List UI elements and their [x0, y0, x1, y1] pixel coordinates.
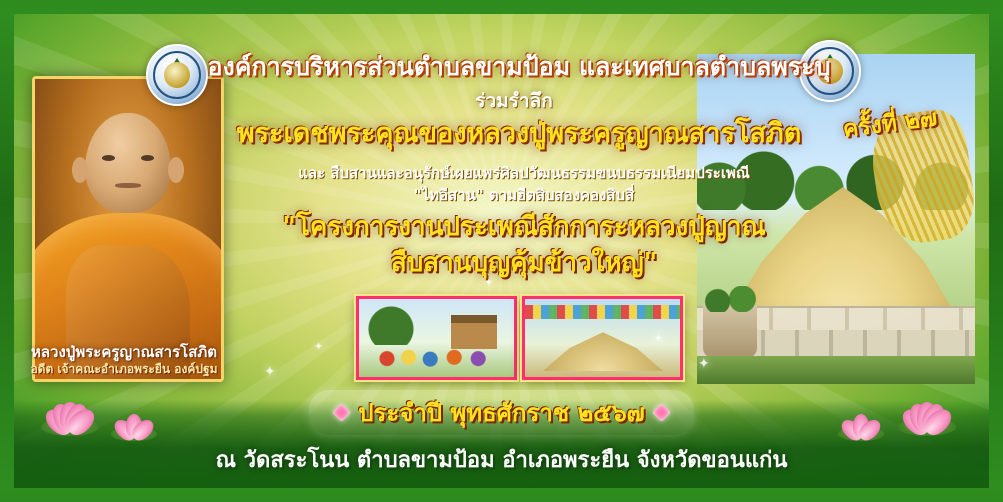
photo1-tree [365, 305, 417, 345]
venue-text: ณ วัดสระโนน ตำบลขามป้อม อำเภอพระยืน จังห… [14, 442, 989, 477]
lotus-flower-icon [108, 406, 159, 438]
monk-eye-left [102, 155, 115, 161]
subtext-culture-line2: "ไทอีสาน" ตามฮีตสิบสองคองสิบสี่ [254, 186, 794, 204]
year-pill: ประจำปี พุทธศักราช ๒๕๖๗ [309, 390, 693, 435]
banner-inner-area: หลวงปู่พระครูญาณสารโสภิต อดีต เจ้าคณะอำเ… [14, 14, 989, 488]
monk-head [85, 113, 171, 213]
monk-caption: หลวงปู่พระครูญาณสารโสภิต อดีต เจ้าคณะอำเ… [18, 344, 230, 376]
lotus-flower-icon [38, 392, 102, 432]
photo2-flags [525, 305, 680, 319]
sparkle-icon: ✦ [484, 276, 493, 289]
photo1-people [375, 343, 495, 369]
subtext-culture-line1: และ สืบสานและอนุรักษ์เผยแพร่ศิลปวัฒนธรรม… [214, 164, 834, 182]
sparkle-icon: ✦ [654, 332, 663, 345]
monk-caption-line2: อดีต เจ้าคณะอำเภอพระยืน องค์ปฐม [18, 362, 230, 376]
sparkle-icon: ✦ [698, 356, 710, 372]
lotus-flower-icon [835, 406, 886, 438]
headline-organizations: องค์การบริหารส่วนตำบลขามป้อม และเทศบาลตำ… [174, 52, 864, 82]
year-text: ประจำปี พุทธศักราช ๒๕๖๗ [358, 393, 644, 432]
sparkle-icon: ✦ [264, 364, 276, 380]
lotus-flower-icon [895, 392, 959, 432]
project-name-line1: "โครงการงานประเพณีสักการะหลวงปู่ญาณ [214, 212, 834, 243]
monk-ear-left [72, 157, 88, 183]
monk-caption-line1: หลวงปู่พระครูญาณสารโสภิต [18, 344, 230, 362]
diamond-sparkle-icon [333, 403, 351, 421]
sparkle-icon: ✦ [314, 340, 323, 353]
project-name-line2: สืบสานบุญคุ้มข้าวใหญ่" [234, 248, 814, 279]
monk-ear-right [168, 157, 184, 183]
diamond-sparkle-icon [652, 403, 670, 421]
monk-mouth [115, 183, 141, 188]
flower-pot [703, 300, 757, 358]
headline-monk-title: พระเดชพระคุณของหลวงปู่พระครูญาณสารโสภิต [194, 118, 844, 150]
monk-eye-right [141, 155, 154, 161]
village-festival-photo [356, 296, 517, 380]
collage-ground [697, 356, 975, 384]
headline-commemorate: ร่วมรำลึก [314, 90, 714, 113]
festival-banner: หลวงปู่พระครูญาณสารโสภิต อดีต เจ้าคณะอำเ… [0, 0, 1003, 502]
